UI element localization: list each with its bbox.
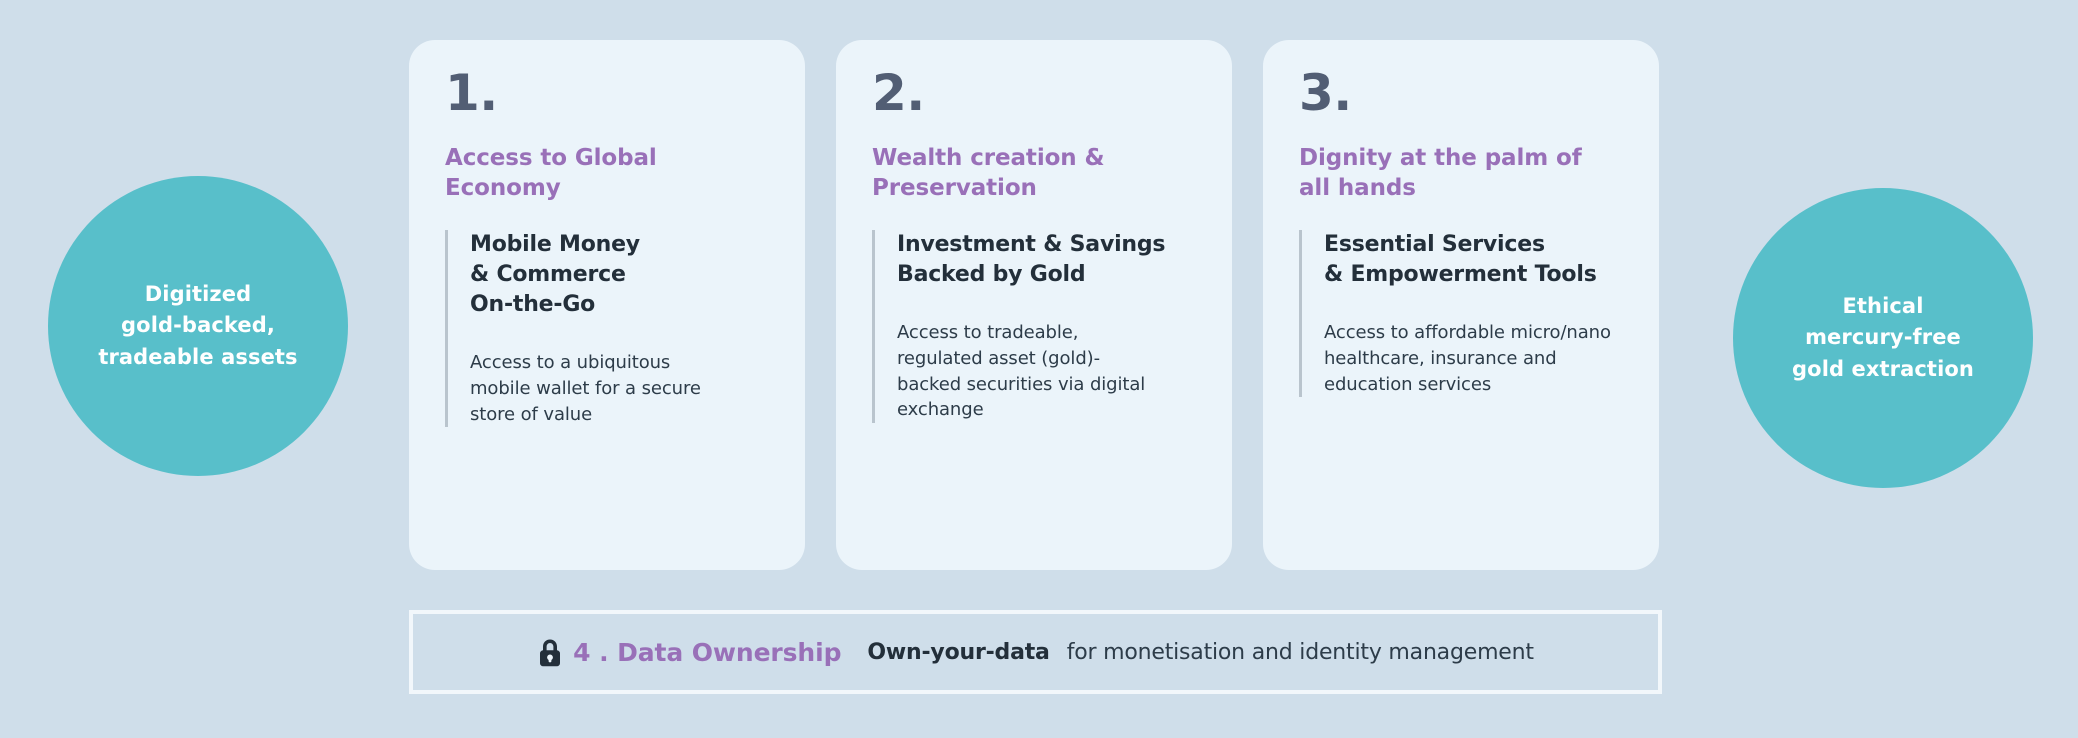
card-1-description: Access to a ubiquitous mobile wallet for… [470,350,769,427]
card-3-number: 3. [1299,68,1623,118]
card-3-heading: Dignity at the palm of all hands [1299,144,1623,204]
card-1-title: Mobile Money & Commerce On-the-Go [470,230,769,320]
card-2-body: Investment & Savings Backed by Gold Acce… [872,230,1196,423]
banner-rest-text: for monetisation and identity management [1067,640,1534,665]
left-highlight-circle: Digitized gold-backed, tradeable assets [48,176,348,476]
card-1-number: 1. [445,68,769,118]
card-2-number: 2. [872,68,1196,118]
card-2-title: Investment & Savings Backed by Gold [897,230,1196,290]
card-1-heading: Access to Global Economy [445,144,769,204]
pillar-cards-row: 1. Access to Global Economy Mobile Money… [409,40,1659,570]
lock-icon [537,638,563,668]
infographic-canvas: Digitized gold-backed, tradeable assets … [0,0,2078,738]
right-circle-text: Ethical mercury-free gold extraction [1768,291,1998,384]
card-2-description: Access to tradeable, regulated asset (go… [897,320,1196,423]
left-circle-text: Digitized gold-backed, tradeable assets [74,279,321,372]
card-3-description: Access to affordable micro/nano healthca… [1324,320,1623,397]
pillar-card-1[interactable]: 1. Access to Global Economy Mobile Money… [409,40,805,570]
pillar-card-3[interactable]: 3. Dignity at the palm of all hands Esse… [1263,40,1659,570]
banner-label: 4 . Data Ownership [573,638,841,667]
card-2-heading: Wealth creation & Preservation [872,144,1196,204]
card-3-title: Essential Services & Empowerment Tools [1324,230,1623,290]
card-1-body: Mobile Money & Commerce On-the-Go Access… [445,230,769,428]
banner-content: 4 . Data Ownership Own-your-data for mon… [537,637,1534,667]
right-highlight-circle: Ethical mercury-free gold extraction [1733,188,2033,488]
banner-strong-text: Own-your-data [867,640,1049,665]
pillar-card-2[interactable]: 2. Wealth creation & Preservation Invest… [836,40,1232,570]
card-3-body: Essential Services & Empowerment Tools A… [1299,230,1623,397]
data-ownership-banner[interactable]: 4 . Data Ownership Own-your-data for mon… [409,610,1662,694]
